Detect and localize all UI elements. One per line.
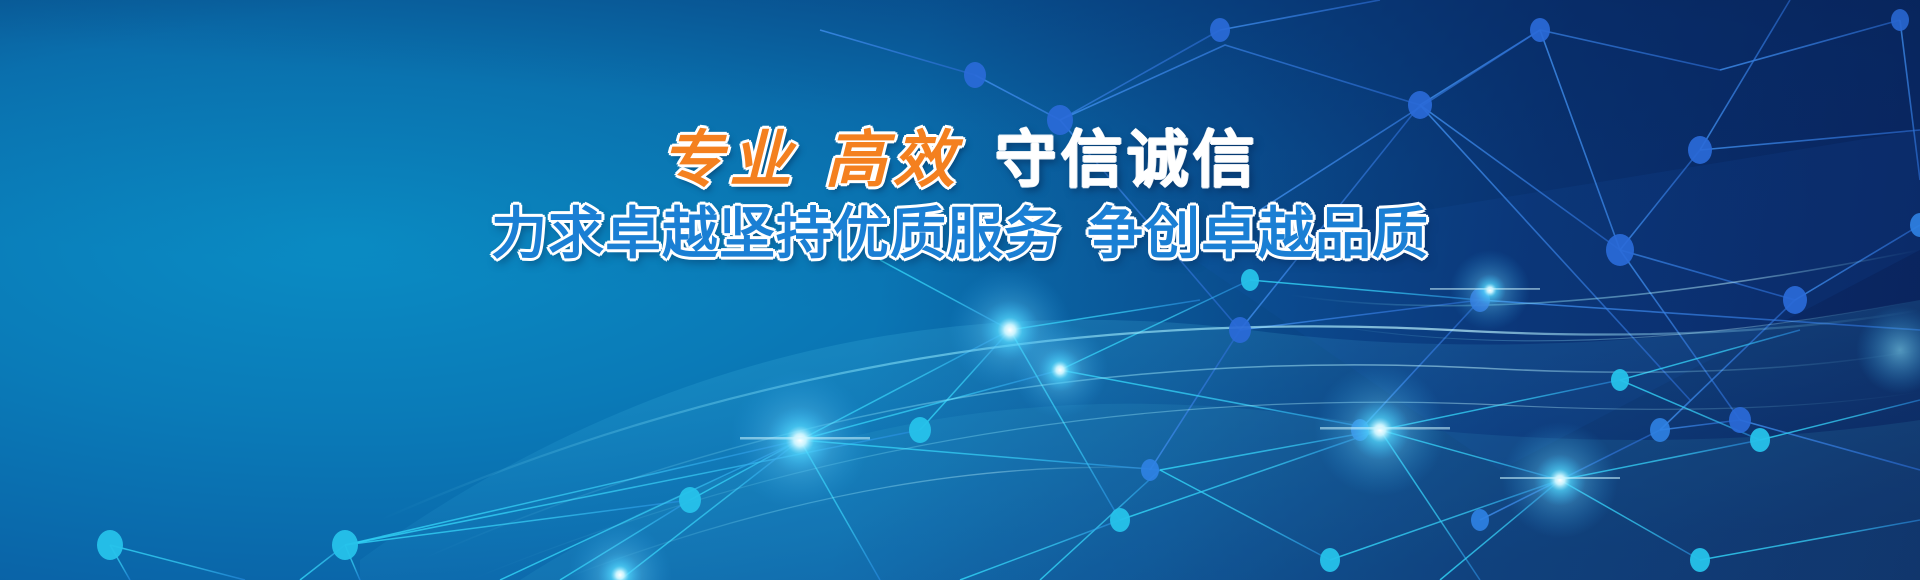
- network-constellation-graphic: [0, 0, 1920, 580]
- hero-banner: 专业 高效守信诚信 力求卓越坚持优质服务争创卓越品质: [0, 0, 1920, 580]
